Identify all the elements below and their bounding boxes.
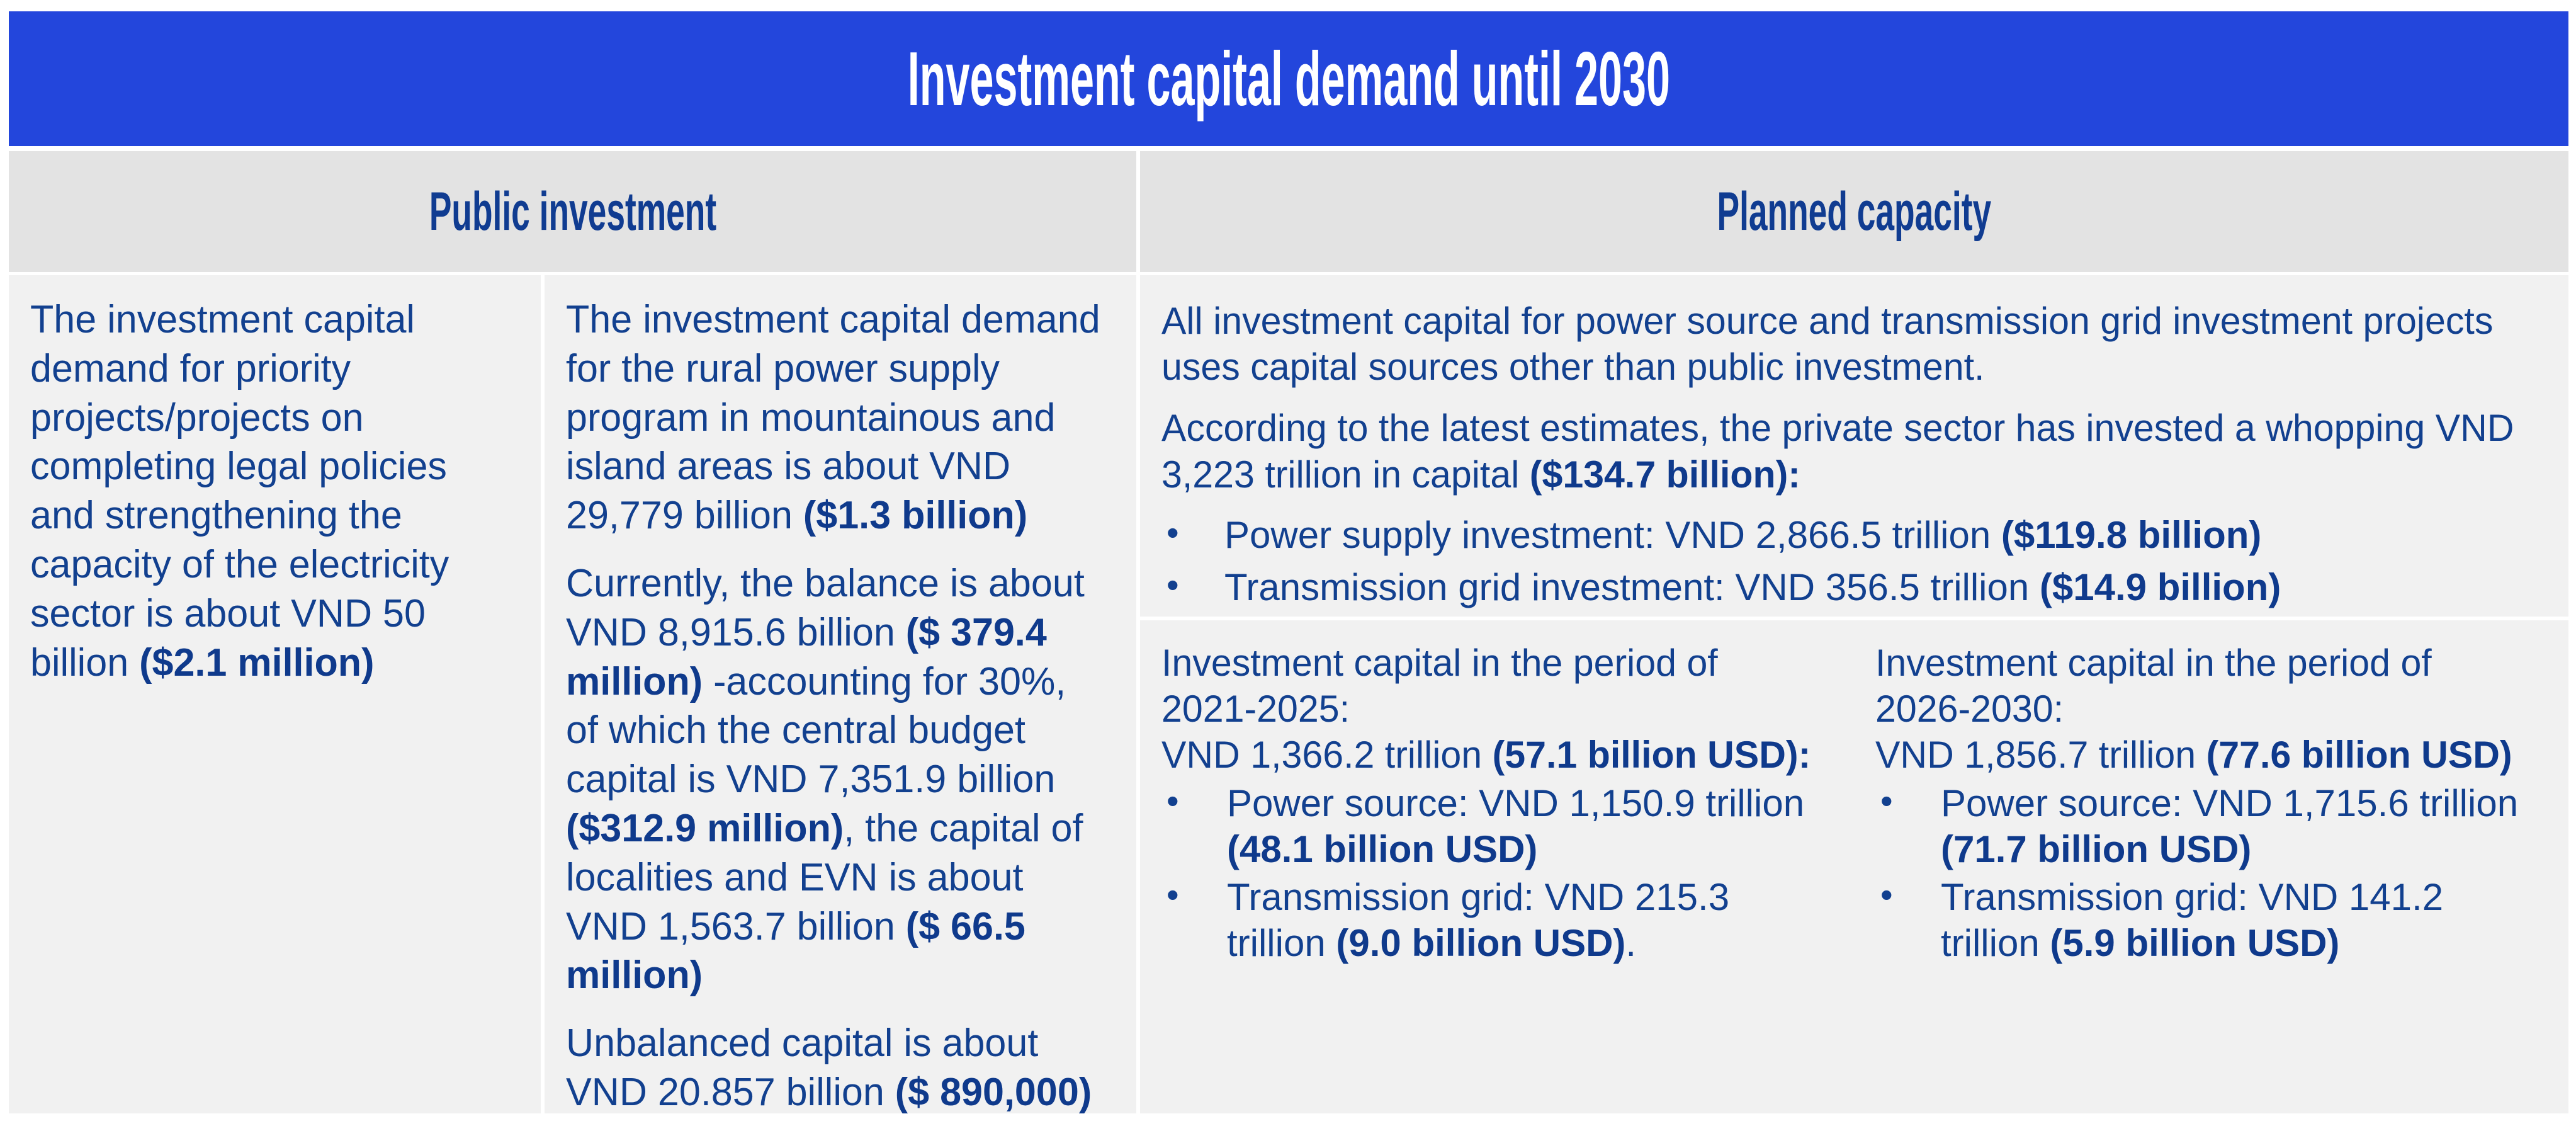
paragraph: Investment capital in the period of 2026… xyxy=(1875,640,2537,778)
header-cell-public-investment: Public investment xyxy=(9,151,1136,272)
list-item: Power source: VND 1,715.6 trillion (71.7… xyxy=(1875,781,2547,873)
paragraph: All investment capital for power source … xyxy=(1161,298,2526,390)
paragraph: According to the latest estimates, the p… xyxy=(1161,405,2526,497)
planned-capacity-periods: Investment capital in the period of 2021… xyxy=(1140,620,2568,1113)
bullet-list: Power supply investment: VND 2,866.5 tri… xyxy=(1161,513,2547,611)
cell-rural-power-program: The investment capital demand for the ru… xyxy=(545,275,1136,1113)
paragraph: The investment capital demand for the ru… xyxy=(566,295,1107,540)
planned-capacity-caption: Planned capacity xyxy=(1717,185,1992,239)
rural-power-program-text: The investment capital demand for the ru… xyxy=(566,295,1115,1113)
infographic-canvas: Investment capital demand until 2030 Pub… xyxy=(0,0,2576,1126)
column-header-band: Public investment Planned capacity xyxy=(9,151,2568,272)
paragraph: Currently, the balance is about VND 8,91… xyxy=(566,559,1107,1000)
private-sector-capital-text: All investment capital for power source … xyxy=(1161,298,2547,611)
period-2021-2025-text: Investment capital in the period of 2021… xyxy=(1161,640,1826,967)
period-2026-2030-text: Investment capital in the period of 2026… xyxy=(1875,640,2547,967)
page-title: Investment capital demand until 2030 xyxy=(907,40,1669,117)
list-item: Power source: VND 1,150.9 trillion (48.1… xyxy=(1161,781,1826,873)
list-item: Transmission grid investment: VND 356.5 … xyxy=(1161,565,2547,611)
paragraph: The investment capital demand for priori… xyxy=(30,295,512,687)
cell-priority-projects: The investment capital demand for priori… xyxy=(9,275,541,1113)
cell-period-2021-2025: Investment capital in the period of 2021… xyxy=(1140,620,1851,1113)
header-cell-planned-capacity: Planned capacity xyxy=(1140,151,2568,272)
paragraph: Investment capital in the period of 2021… xyxy=(1161,640,1816,778)
title-bar: Investment capital demand until 2030 xyxy=(9,11,2568,146)
bullet-list: Power source: VND 1,715.6 trillion (71.7… xyxy=(1875,781,2547,967)
panel-planned-capacity: All investment capital for power source … xyxy=(1140,275,2568,1113)
list-item: Transmission grid: VND 141.2 trillion (5… xyxy=(1875,875,2547,967)
public-investment-caption: Public investment xyxy=(429,185,716,239)
cell-private-sector-capital: All investment capital for power source … xyxy=(1140,275,2568,617)
bullet-list: Power source: VND 1,150.9 trillion (48.1… xyxy=(1161,781,1826,967)
content-body: The investment capital demand for priori… xyxy=(9,275,2568,1113)
panel-public-investment: The investment capital demand for priori… xyxy=(9,275,1136,1113)
paragraph: Unbalanced capital is about VND 20.857 b… xyxy=(566,1019,1107,1113)
list-item: Power supply investment: VND 2,866.5 tri… xyxy=(1161,513,2547,559)
priority-projects-text: The investment capital demand for priori… xyxy=(30,295,519,687)
list-item: Transmission grid: VND 215.3 trillion (9… xyxy=(1161,875,1826,967)
cell-period-2026-2030: Investment capital in the period of 2026… xyxy=(1851,620,2568,1113)
